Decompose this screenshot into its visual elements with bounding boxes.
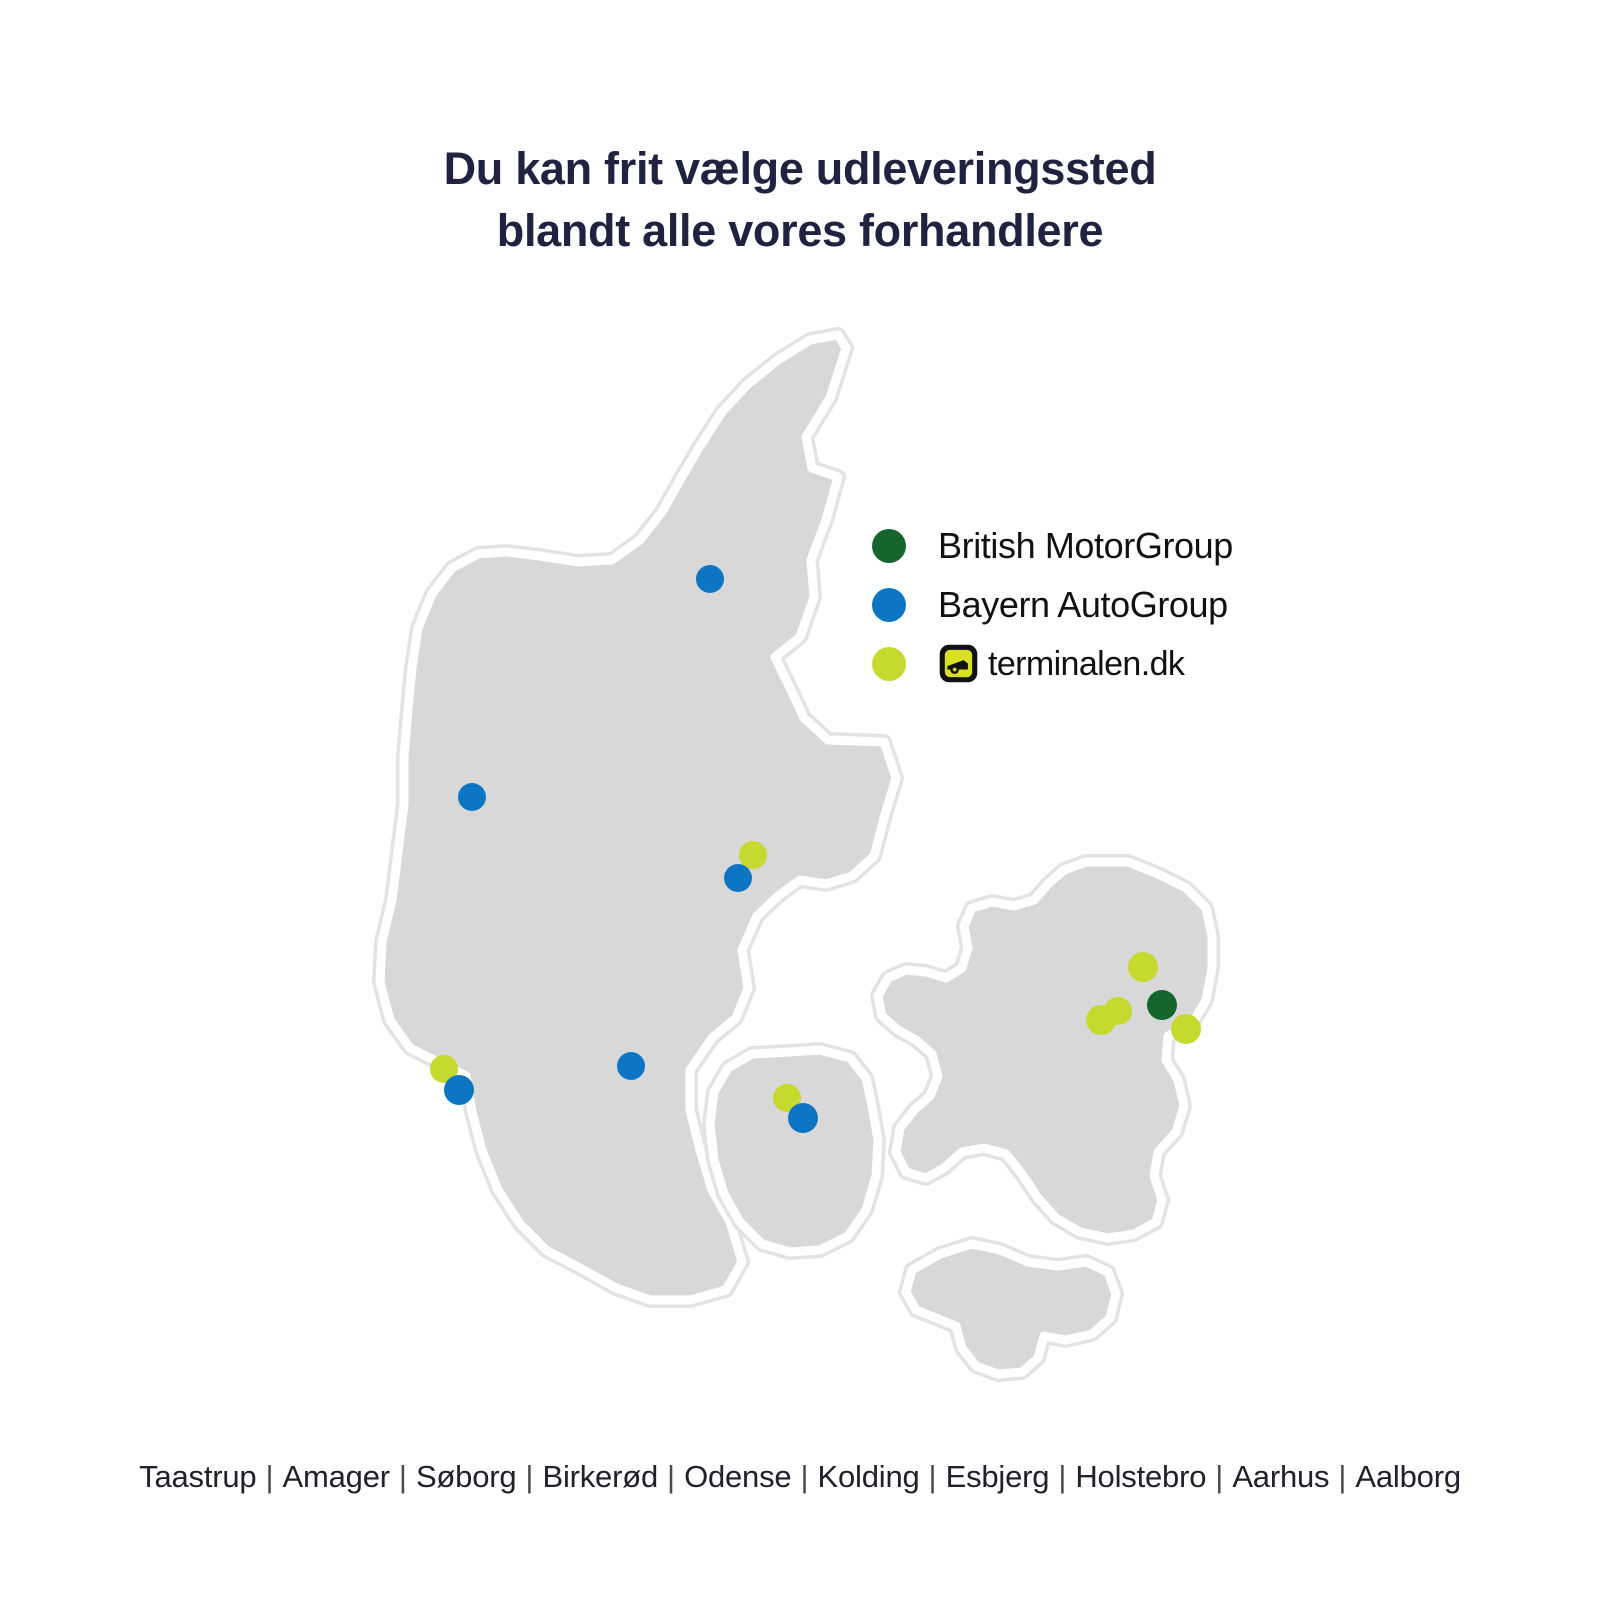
blue-dot-icon [872,588,906,622]
city-separator: | [1206,1459,1232,1494]
legend-item-bayern-autogroup[interactable]: Bayern AutoGroup [872,575,1352,634]
map-marker-taastrup-terminalen[interactable] [1086,1005,1116,1035]
legend-item-label: Bayern AutoGroup [938,585,1228,625]
city-separator: | [516,1459,542,1494]
city-list-item: Aarhus [1232,1459,1329,1494]
map-marker-holstebro-bayern[interactable] [458,783,486,811]
city-list-item: Esbjerg [946,1459,1050,1494]
map-marker-kolding-bayern[interactable] [617,1052,645,1080]
city-list-item: Amager [283,1459,390,1494]
city-separator: | [256,1459,282,1494]
legend-item-british-motorgroup[interactable]: British MotorGroup [872,516,1352,575]
map-marker-odense-bayern[interactable] [788,1103,818,1133]
city-separator: | [791,1459,817,1494]
map-infographic: Du kan frit vælge udleveringssted blandt… [0,0,1600,1600]
terminalen-logo-icon [938,643,979,684]
city-list: Taastrup|Amager|Søborg|Birkerød|Odense|K… [0,1456,1600,1498]
map-marker-amager-british[interactable] [1147,990,1177,1020]
city-separator: | [658,1459,684,1494]
city-list-item: Birkerød [542,1459,658,1494]
denmark-map-svg [0,0,1600,1600]
yellow-dot-icon [872,647,906,681]
city-list-item: Taastrup [139,1459,256,1494]
city-separator: | [1049,1459,1075,1494]
legend-item-label: British MotorGroup [938,526,1233,566]
map-marker-esbjerg-bayern[interactable] [444,1075,474,1105]
city-list-item: Holstebro [1075,1459,1206,1494]
legend-item-label: terminalen.dk [988,646,1184,682]
city-list-item: Odense [684,1459,791,1494]
city-separator: | [390,1459,416,1494]
map-marker-aalborg-bayern[interactable] [696,565,724,593]
map-marker-aarhus-bayern[interactable] [724,864,752,892]
terminalen-brand-lockup: terminalen.dk [938,643,1184,684]
legend-item-terminalen-dk[interactable]: terminalen.dk [872,634,1352,693]
region-lolland-falster-inner [906,1244,1116,1374]
city-list-item: Aalborg [1355,1459,1460,1494]
map-legend: British MotorGroup Bayern AutoGroup [872,516,1352,693]
city-list-item: Søborg [416,1459,516,1494]
map-marker-soborg-terminalen[interactable] [1128,952,1158,982]
map-landmasses [380,335,1212,1374]
city-separator: | [1329,1459,1355,1494]
map-marker-amager-terminalen[interactable] [1171,1014,1201,1044]
denmark-map [0,0,1600,1600]
city-list-item: Kolding [818,1459,920,1494]
city-separator: | [920,1459,946,1494]
green-dot-icon [872,529,906,563]
region-funen-inner [710,1050,878,1252]
